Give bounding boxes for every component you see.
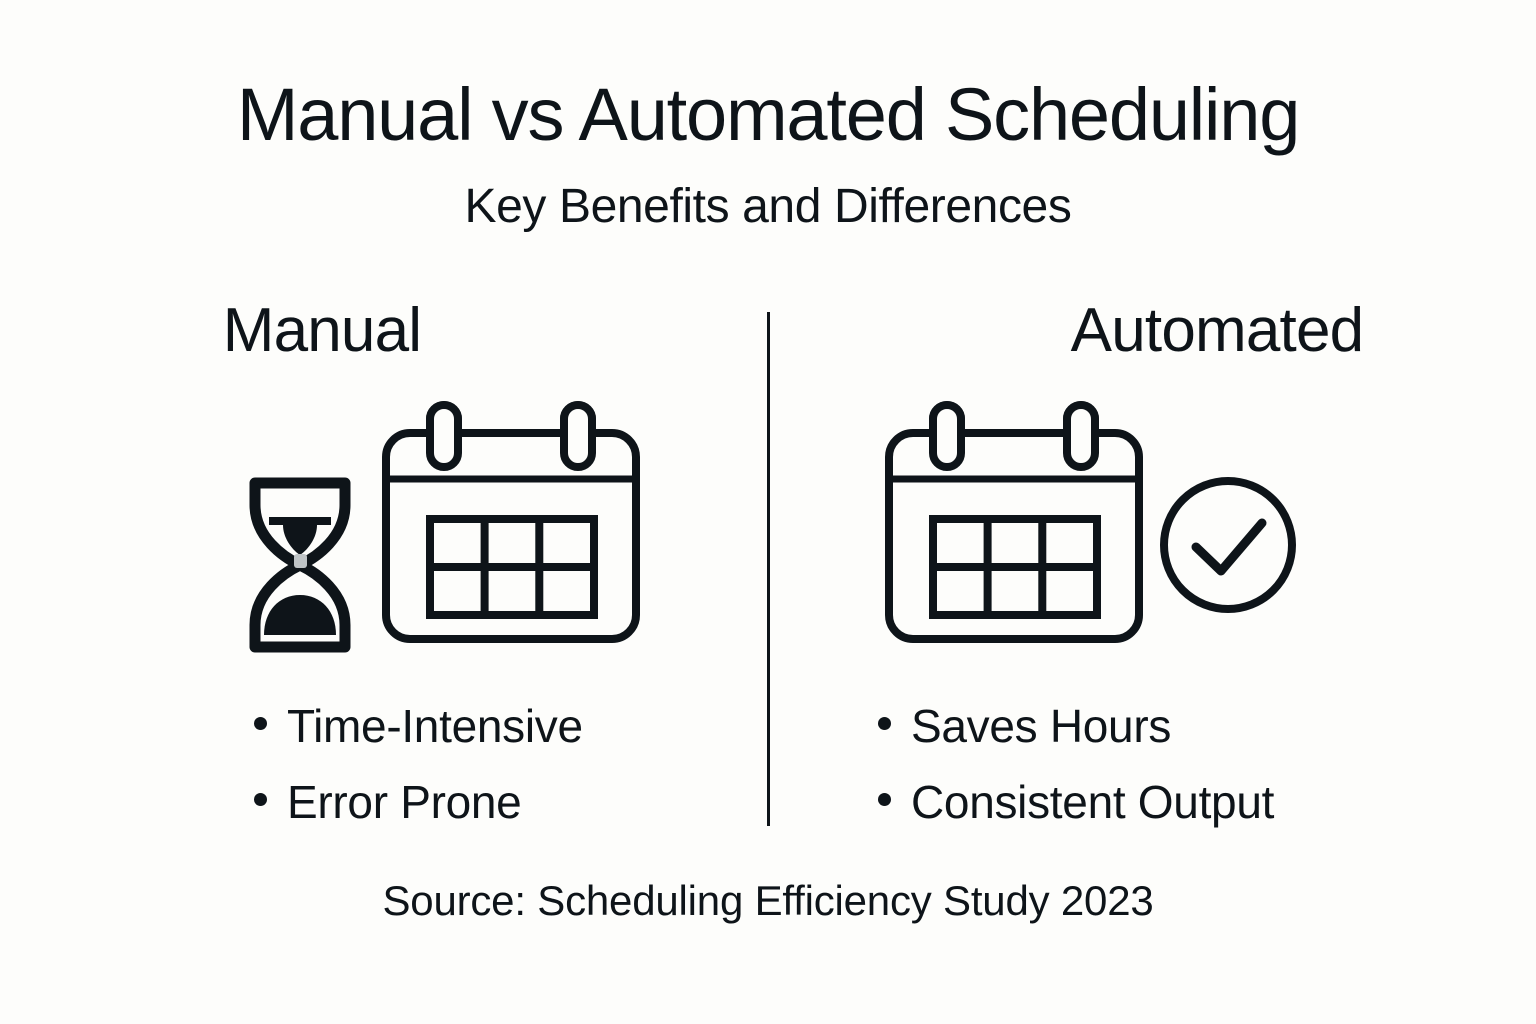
calendar-icon xyxy=(881,395,1149,645)
bullet-dot-icon xyxy=(878,793,891,806)
page-title: Manual vs Automated Scheduling xyxy=(0,78,1536,152)
check-circle-icon xyxy=(1158,475,1298,615)
column-automated: Automated xyxy=(768,300,1536,860)
icon-row-automated xyxy=(768,395,1536,665)
hourglass-icon xyxy=(243,475,357,655)
bullet-label: Time-Intensive xyxy=(287,688,583,764)
column-heading-automated: Automated xyxy=(833,300,1536,362)
bullet-label: Saves Hours xyxy=(911,688,1171,764)
bullet-dot-icon xyxy=(878,717,891,730)
source-caption: Source: Scheduling Efficiency Study 2023 xyxy=(0,880,1536,922)
list-item: Consistent Output xyxy=(878,764,1536,840)
bullet-label: Error Prone xyxy=(287,764,521,840)
list-item: Saves Hours xyxy=(878,688,1536,764)
infographic-canvas: Manual vs Automated Scheduling Key Benef… xyxy=(0,0,1536,1024)
bullet-dot-icon xyxy=(254,717,267,730)
column-heading-manual: Manual xyxy=(0,300,706,362)
bullet-list-automated: Saves Hours Consistent Output xyxy=(768,688,1536,840)
column-manual: Manual xyxy=(0,300,768,860)
page-subtitle: Key Benefits and Differences xyxy=(0,183,1536,231)
calendar-icon xyxy=(378,395,646,645)
bullet-label: Consistent Output xyxy=(911,764,1274,840)
bullet-dot-icon xyxy=(254,793,267,806)
icon-row-manual xyxy=(0,395,768,665)
